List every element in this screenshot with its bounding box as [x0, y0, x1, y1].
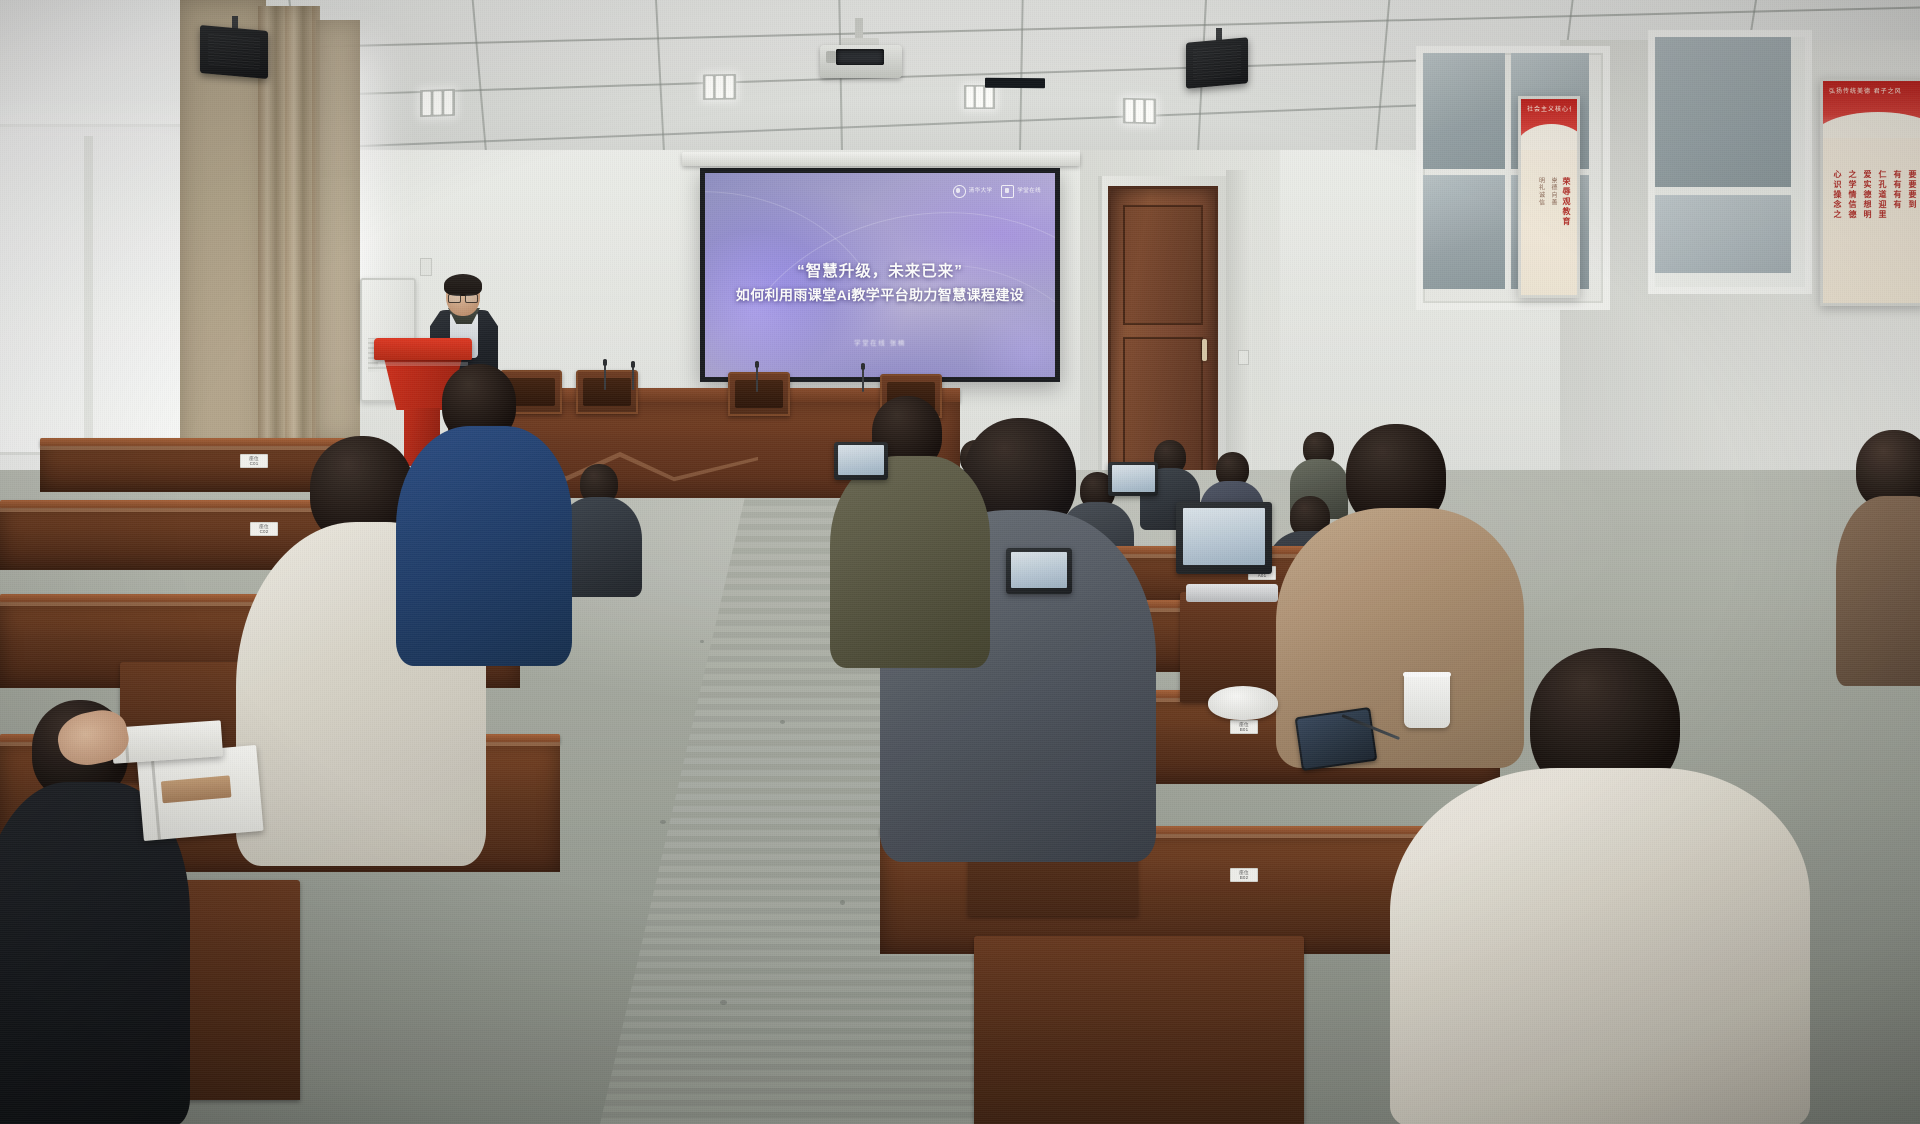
smartphone[interactable]	[1295, 707, 1378, 771]
window-right-far	[1648, 30, 1812, 294]
poster-column: 崇德向善	[1549, 177, 1557, 289]
poster-banner: 弘扬传统美德 君子之风	[1823, 81, 1920, 156]
window-right	[1416, 46, 1610, 310]
xuetangx-mark-icon	[1001, 185, 1014, 198]
presentation-slide: 清华大学 学堂在线 “智慧升级，未来已来” 如何利用雨课堂Ai教学平台助力智慧课…	[705, 173, 1055, 377]
ceiling-light-fixture	[1123, 98, 1156, 124]
poster-column: 仁孔道迎里	[1877, 170, 1887, 297]
attendee-blue-jacket	[396, 364, 572, 664]
gooseneck-microphone[interactable]	[862, 368, 864, 392]
gooseneck-microphone[interactable]	[632, 366, 634, 390]
chair-back[interactable]	[974, 936, 1304, 1124]
slide-logos: 清华大学 学堂在线	[953, 185, 1041, 198]
xuetangx-logo: 学堂在线	[1001, 185, 1041, 198]
wall-speaker-right	[1186, 37, 1248, 88]
projection-screen: 清华大学 学堂在线 “智慧升级，未来已来” 如何利用雨课堂Ai教学平台助力智慧课…	[700, 168, 1060, 382]
poster-column: 荣辱观教育	[1561, 177, 1571, 289]
laptop[interactable]	[1006, 548, 1072, 594]
laptop[interactable]	[1176, 502, 1272, 574]
notebook-band	[160, 775, 231, 803]
poster-columns: 荣辱观教育 崇德向善 明礼诚信	[1527, 177, 1571, 289]
wall-socket[interactable]	[1238, 350, 1249, 365]
poster-banner-text: 社会主义核心价值观	[1527, 104, 1571, 113]
tsinghua-logo-text: 清华大学	[969, 189, 993, 195]
gooseneck-microphone[interactable]	[756, 366, 758, 392]
window-mullion	[84, 136, 93, 458]
seat-number-tag: 座位 B02	[1230, 868, 1258, 882]
laptop[interactable]	[1108, 462, 1158, 496]
paper-cup[interactable]	[1404, 672, 1450, 728]
poster-column: 心识操念之	[1832, 170, 1842, 297]
wall-switch-plate[interactable]	[420, 258, 432, 276]
door-handle-icon[interactable]	[1202, 339, 1207, 361]
ceiling-light-fixture	[964, 85, 995, 109]
slide-title: “智慧升级，未来已来”	[705, 259, 1055, 281]
attendee-far-right	[1390, 648, 1810, 1124]
slide-subtitle: 如何利用雨课堂Ai教学平台助力智慧课程建设	[705, 285, 1055, 305]
xuetangx-logo-text: 学堂在线	[1017, 189, 1041, 195]
poster-columns: 要要要到 有有有有 仁孔道迎里 爱实德想明 之学情信德 心识操念之	[1829, 170, 1917, 297]
projector-icon	[815, 18, 905, 80]
screen-roller-housing	[682, 152, 1080, 166]
ceiling-light-fixture	[703, 74, 736, 100]
curtain-left-third	[316, 20, 360, 440]
poster-column: 明礼诚信	[1536, 177, 1544, 289]
slide-byline: 学堂在线 张楠	[705, 337, 1055, 347]
head-table-chair[interactable]	[728, 372, 790, 416]
gooseneck-microphone[interactable]	[604, 364, 606, 390]
window-left-upper	[0, 0, 184, 126]
ceiling-vent	[985, 78, 1045, 89]
poster-banner-text: 弘扬传统美德 君子之风	[1829, 86, 1917, 95]
poster-column: 要要要到	[1907, 170, 1917, 297]
ceiling-light-fixture	[420, 89, 455, 117]
glasses-icon	[448, 293, 478, 301]
attendee-olive-jacket	[830, 396, 990, 664]
attendee-right-edge	[1836, 430, 1920, 680]
laptop[interactable]	[834, 442, 888, 480]
poster-column: 有有有有	[1892, 170, 1902, 297]
podium-top	[374, 338, 472, 360]
poster-column: 之学情信德	[1847, 170, 1857, 297]
wall-poster-right: 弘扬传统美德 君子之风 要要要到 有有有有 仁孔道迎里 爱实德想明 之学情信德 …	[1820, 78, 1920, 306]
tsinghua-seal-icon	[953, 185, 966, 198]
poster-banner: 社会主义核心价值观	[1521, 99, 1577, 166]
tablet-on-desk[interactable]	[1186, 584, 1278, 602]
head-table-chair[interactable]	[576, 370, 638, 414]
wall-poster-left: 社会主义核心价值观 荣辱观教育 崇德向善 明礼诚信	[1518, 96, 1580, 298]
seat-number-tag: 座位 B01	[1230, 720, 1258, 734]
wall-speaker-left	[200, 25, 268, 79]
lecture-hall-photo: 清华大学 学堂在线 “智慧升级，未来已来” 如何利用雨课堂Ai教学平台助力智慧课…	[0, 0, 1920, 1124]
poster-column: 爱实德想明	[1862, 170, 1872, 297]
computer-mouse[interactable]	[1208, 686, 1278, 720]
tsinghua-university-logo: 清华大学	[953, 185, 993, 198]
